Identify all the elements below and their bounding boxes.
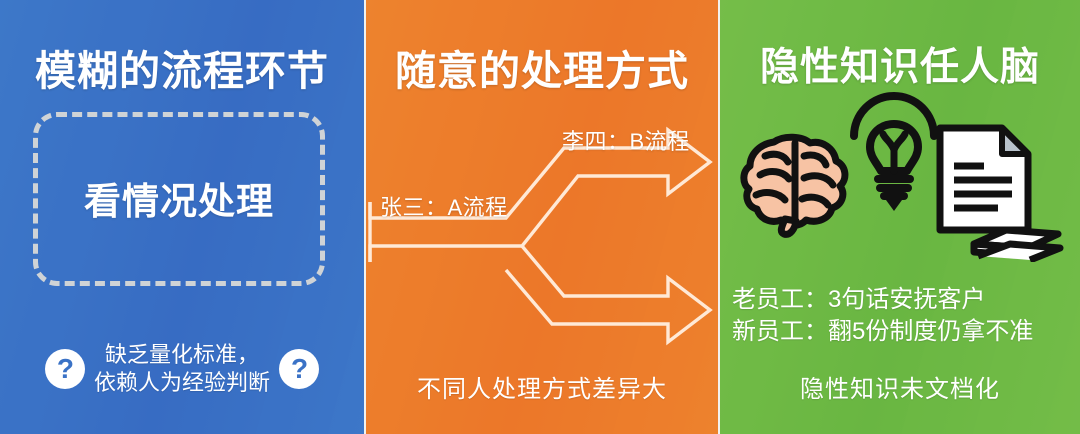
panel-green-footer-text: 隐性知识未文档化 — [720, 369, 1080, 404]
panel-green-title: 隐性知识任人脑 — [720, 46, 1080, 91]
lightbulb-icon — [848, 84, 940, 219]
brain-icon — [738, 126, 856, 243]
branch-label-b: 李四：B流程 — [562, 124, 690, 156]
panel-blue: 模糊的流程环节 看情况处理 ? 缺乏量化标准， 依赖人为经验判断 ? — [0, 0, 364, 434]
dashed-box-label: 看情况处理 — [38, 171, 320, 225]
panel-green-line-2: 新员工：翻5份制度仍拿不准 — [732, 316, 1076, 348]
document-stack-icon — [932, 122, 1064, 267]
branch-label-a: 张三：A流程 — [380, 190, 508, 222]
panel-green-line-1: 老员工：3句话安抚客户 — [732, 284, 1076, 316]
three-panel-poster: 模糊的流程环节 看情况处理 ? 缺乏量化标准， 依赖人为经验判断 ? 随意的处理… — [0, 0, 1080, 434]
panel-green-lines: 老员工：3句话安抚客户 新员工：翻5份制度仍拿不准 — [732, 284, 1076, 347]
panel-blue-footer: ? 缺乏量化标准， 依赖人为经验判断 ? — [0, 341, 364, 398]
panel-orange-title: 随意的处理方式 — [366, 48, 718, 95]
panel-orange-footer-text: 不同人处理方式差异大 — [366, 369, 718, 404]
panel-blue-title: 模糊的流程环节 — [0, 48, 364, 95]
dashed-callout-box: 看情况处理 — [33, 112, 325, 286]
question-mark-circle-right-icon: ? — [279, 349, 319, 389]
panel-blue-footer-text: 缺乏量化标准， 依赖人为经验判断 — [94, 341, 270, 398]
question-mark-circle-left-icon: ? — [45, 349, 85, 389]
panel-green: 隐性知识任人脑 — [720, 0, 1080, 434]
panel-orange: 随意的处理方式 张三：A流程 李四：B流程 不同人处理方式差异大 — [366, 0, 718, 434]
knowledge-icon-row — [720, 84, 1080, 269]
